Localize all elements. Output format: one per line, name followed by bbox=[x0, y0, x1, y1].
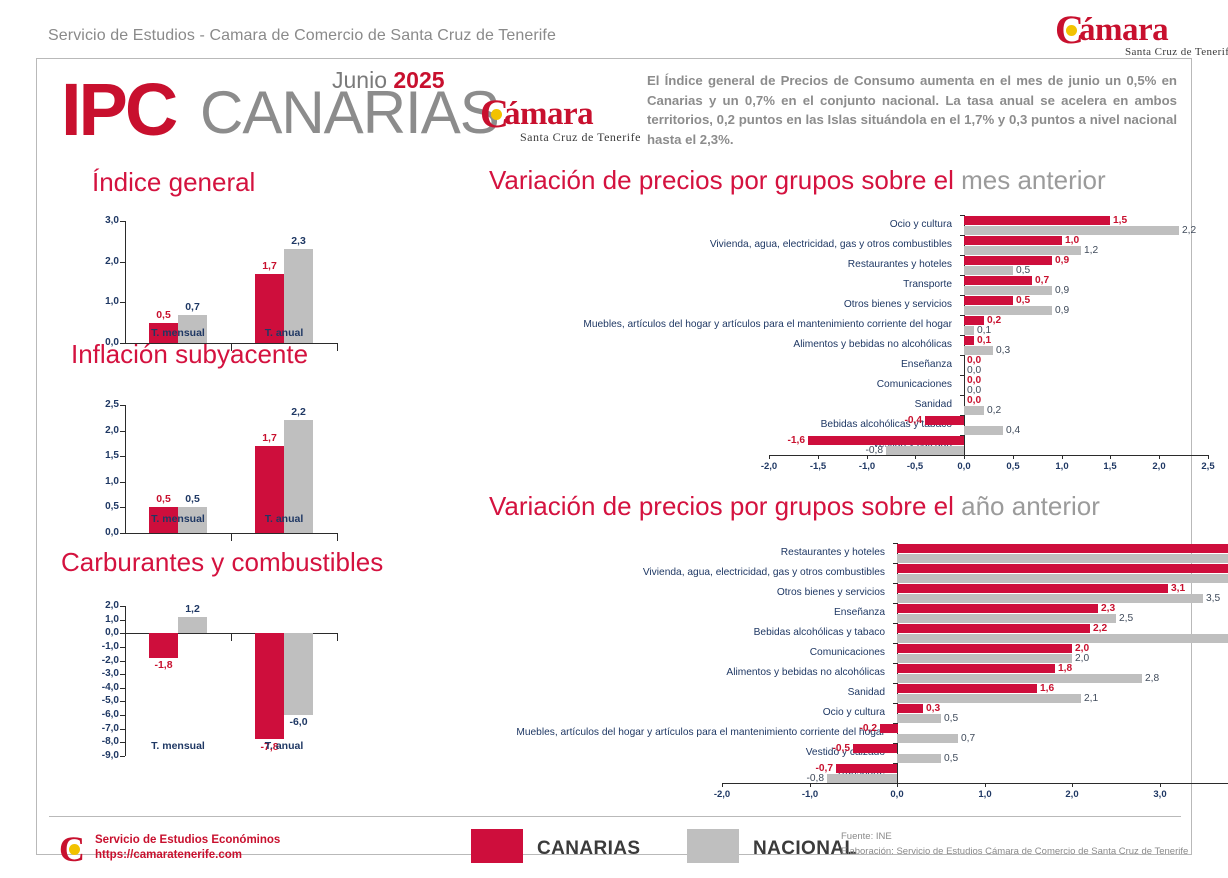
bar-value-label: 0,3 bbox=[926, 704, 940, 713]
bar-canarias bbox=[964, 336, 974, 345]
bar-nacional bbox=[964, 266, 1013, 275]
bar-value-label: 3,1 bbox=[1171, 584, 1185, 593]
infographic-page: Servicio de Estudios - Camara de Comerci… bbox=[0, 0, 1228, 878]
footer-divider bbox=[49, 816, 1181, 817]
period-year: 2025 bbox=[393, 67, 444, 93]
y-axis-tick bbox=[120, 302, 125, 303]
report-card: IPC CANARIAS Junio 2025 C ámara Santa Cr… bbox=[36, 58, 1192, 855]
bar-nacional bbox=[897, 734, 958, 743]
bar-value-label: 0,0 bbox=[967, 376, 981, 385]
summary-paragraph: El Índice general de Precios de Consumo … bbox=[647, 71, 1177, 149]
y-axis-tick bbox=[120, 405, 125, 406]
bar-value-label: 0,5 bbox=[1016, 296, 1030, 305]
legend-swatch-canarias bbox=[471, 829, 523, 863]
section-title-anio-anterior-highlight: año anterior bbox=[961, 491, 1100, 521]
category-label: Restaurantes y hoteles bbox=[77, 547, 885, 558]
bar-value-label: 2,0 bbox=[1075, 644, 1089, 653]
bar-value-label: 2,2 bbox=[1093, 624, 1107, 633]
bar-nacional bbox=[964, 326, 974, 335]
category-label: Transporte bbox=[77, 767, 885, 778]
x-axis-tick-label: 2,0 bbox=[1050, 789, 1094, 800]
bar-nacional bbox=[897, 714, 941, 723]
bar-value-label: 3,5 bbox=[1206, 594, 1220, 603]
x-axis-tick-label: -0,5 bbox=[893, 461, 937, 472]
x-axis-line bbox=[769, 455, 1208, 456]
y-axis-tick bbox=[120, 262, 125, 263]
category-label: Enseñanza bbox=[77, 607, 885, 618]
bar-value-label: 0,0 bbox=[967, 366, 981, 375]
bar-value-label: 1,6 bbox=[1040, 684, 1054, 693]
bar-canarias bbox=[925, 416, 964, 425]
bar-value-label: 0,0 bbox=[967, 386, 981, 395]
bar-canarias bbox=[897, 544, 1228, 553]
bar-nacional bbox=[897, 594, 1203, 603]
bar-canarias bbox=[836, 764, 897, 773]
bar-value-label: -0,8 bbox=[854, 446, 883, 455]
category-separator bbox=[337, 533, 338, 541]
y-axis-tick bbox=[120, 701, 125, 702]
category-label: Vivienda, agua, electricidad, gas y otro… bbox=[77, 567, 885, 578]
legend-swatch-nacional bbox=[687, 829, 739, 863]
section-title-mes-anterior-main: Variación de precios por grupos sobre el bbox=[489, 165, 961, 195]
x-axis-tick bbox=[1160, 783, 1161, 787]
category-label: Comunicaciones bbox=[147, 379, 952, 390]
bar-value-label: 2,1 bbox=[1084, 694, 1098, 703]
category-label: Restaurantes y hoteles bbox=[147, 259, 952, 270]
camara-logo-word: ámara bbox=[1079, 14, 1168, 47]
bar-canarias bbox=[897, 684, 1037, 693]
category-label: Sanidad bbox=[77, 687, 885, 698]
x-axis-tick-label: 1,0 bbox=[963, 789, 1007, 800]
x-axis-tick-label: 2,0 bbox=[1137, 461, 1181, 472]
x-axis-tick bbox=[1110, 455, 1111, 459]
bar-value-label: 1,8 bbox=[1058, 664, 1072, 673]
y-axis-tick-label: 3,0 bbox=[77, 215, 119, 226]
bar-value-label: 0,5 bbox=[944, 714, 958, 723]
bar-value-label: 0,1 bbox=[977, 336, 991, 345]
category-label: Comunicaciones bbox=[77, 647, 885, 658]
category-label: Otros bienes y servicios bbox=[77, 587, 885, 598]
bar-nacional bbox=[897, 614, 1116, 623]
bar-canarias bbox=[897, 624, 1090, 633]
category-label: Otros bienes y servicios bbox=[147, 299, 952, 310]
y-axis-tick bbox=[120, 620, 125, 621]
bar-value-label: 1,2 bbox=[1084, 246, 1098, 255]
section-title-anio-anterior-main: Variación de precios por grupos sobre el bbox=[489, 491, 961, 521]
bar-value-label: 0,4 bbox=[1006, 426, 1020, 435]
bar-value-label: -0,7 bbox=[804, 764, 833, 773]
bar-canarias bbox=[897, 604, 1098, 613]
bar-canarias bbox=[964, 216, 1110, 225]
y-axis-tick-label: 2,0 bbox=[77, 256, 119, 267]
category-label: T. anual bbox=[229, 513, 339, 525]
bar-nacional bbox=[964, 306, 1052, 315]
source-line-2: Elaboración: Servicio de Estudios Cámara… bbox=[841, 846, 1188, 857]
camara-logo-dot bbox=[69, 844, 80, 855]
page-subtitle: Servicio de Estudios - Camara de Comerci… bbox=[48, 27, 556, 45]
x-axis-tick bbox=[1013, 455, 1014, 459]
category-label: Enseñanza bbox=[147, 359, 952, 370]
bar-canarias bbox=[964, 316, 984, 325]
y-axis-tick bbox=[120, 482, 125, 483]
x-axis-tick bbox=[985, 783, 986, 787]
camara-logo-word: ámara bbox=[504, 98, 593, 131]
bar-value-label: -0,8 bbox=[795, 774, 824, 783]
bar-canarias bbox=[897, 564, 1228, 573]
bar-canarias bbox=[853, 744, 897, 753]
x-axis-tick-label: 2,5 bbox=[1186, 461, 1228, 472]
bar-value-label: -0,2 bbox=[848, 724, 877, 733]
bar-nacional bbox=[897, 654, 1072, 663]
ipc-wordmark: IPC bbox=[61, 73, 175, 147]
y-axis-tick-label: 2,0 bbox=[77, 425, 119, 436]
y-axis-tick bbox=[960, 395, 964, 396]
bar-value-label: -0,5 bbox=[821, 744, 850, 753]
category-label: Bebidas alcohólicas y tabaco bbox=[147, 419, 952, 430]
category-label: T. mensual bbox=[123, 513, 233, 525]
y-axis-tick bbox=[120, 431, 125, 432]
bar-nacional bbox=[897, 754, 941, 763]
x-axis-tick-label: -1,0 bbox=[788, 789, 832, 800]
category-label: Ocio y cultura bbox=[147, 219, 952, 230]
masthead: IPC CANARIAS Junio 2025 C ámara Santa Cr… bbox=[37, 59, 1193, 171]
bar-nacional bbox=[897, 634, 1228, 643]
bar-nacional bbox=[964, 286, 1052, 295]
category-label: Alimentos y bebidas no alcohólicas bbox=[77, 667, 885, 678]
footer-service-name: Servicio de Estudios Económinos bbox=[95, 834, 280, 846]
bar-nacional bbox=[964, 346, 993, 355]
bar-canarias bbox=[964, 236, 1062, 245]
bar-value-label: 0,7 bbox=[1035, 276, 1049, 285]
category-label: Muebles, artículos del hogar y artículos… bbox=[147, 319, 952, 330]
y-axis-tick-label: 1,0 bbox=[77, 476, 119, 487]
y-axis-tick-label: 1,0 bbox=[77, 296, 119, 307]
bar-nacional bbox=[886, 446, 964, 455]
y-axis-tick bbox=[120, 221, 125, 222]
section-title-mes-anterior: Variación de precios por grupos sobre el… bbox=[489, 165, 1106, 196]
x-axis-tick bbox=[722, 783, 723, 787]
bar-nacional bbox=[964, 406, 984, 415]
period-label: Junio 2025 bbox=[332, 67, 445, 94]
bar-value-label: 2,2 bbox=[1182, 226, 1196, 235]
y-axis-tick-label: 2,5 bbox=[77, 399, 119, 410]
section-title-mes-anterior-highlight: mes anterior bbox=[961, 165, 1106, 195]
bar-value-label: 0,5 bbox=[944, 754, 958, 763]
camara-logo-dot bbox=[491, 109, 502, 120]
section-title-anio-anterior: Variación de precios por grupos sobre el… bbox=[489, 491, 1100, 522]
bar-value-label: 2,8 bbox=[1145, 674, 1159, 683]
bar-value-label: 0,7 bbox=[961, 734, 975, 743]
y-axis-tick-label: 0,5 bbox=[77, 501, 119, 512]
bar-canarias bbox=[964, 256, 1052, 265]
x-axis-tick-label: 0,0 bbox=[875, 789, 919, 800]
footer-logo[interactable]: C Servicio de Estudios Económinos https:… bbox=[59, 831, 379, 871]
bar-value-label: 0,3 bbox=[996, 346, 1010, 355]
bar-nacional bbox=[964, 246, 1081, 255]
period-month: Junio bbox=[332, 67, 387, 93]
bar-nacional bbox=[827, 774, 897, 783]
x-axis-tick-label: 1,0 bbox=[1040, 461, 1084, 472]
bar-value-label: 0,0 bbox=[967, 396, 981, 405]
bar-canarias bbox=[964, 276, 1032, 285]
bar-canarias bbox=[880, 724, 898, 733]
chart-mes-anterior: -2,0-1,5-1,0-0,50,00,51,01,52,02,5Ocio y… bbox=[377, 197, 1177, 465]
x-axis-tick-label: 0,0 bbox=[942, 461, 986, 472]
x-axis-tick-label: 0,5 bbox=[991, 461, 1035, 472]
x-axis-tick-label: 3,0 bbox=[1138, 789, 1182, 800]
x-axis-tick-label: -2,0 bbox=[747, 461, 791, 472]
bar-canarias bbox=[808, 436, 964, 445]
x-axis-tick bbox=[1072, 783, 1073, 787]
x-axis-line bbox=[722, 783, 1228, 784]
y-axis-tick-label: 0,0 bbox=[77, 337, 119, 348]
source-line-1: Fuente: INE bbox=[841, 831, 892, 842]
x-axis-tick-label: -2,0 bbox=[700, 789, 744, 800]
bar-value-label: 2,0 bbox=[1075, 654, 1089, 663]
y-axis-tick bbox=[120, 456, 125, 457]
bar-value-label: 2,3 bbox=[1101, 604, 1115, 613]
x-axis-tick bbox=[915, 455, 916, 459]
bar-value-label: 0,0 bbox=[967, 356, 981, 365]
bar-value-label: 1,0 bbox=[1065, 236, 1079, 245]
camara-logo-top: C ámara Santa Cruz de Tenerife bbox=[1055, 8, 1225, 56]
y-axis-tick bbox=[120, 661, 125, 662]
x-axis-tick bbox=[1062, 455, 1063, 459]
y-axis-tick bbox=[120, 507, 125, 508]
x-axis-tick-label: -1,5 bbox=[796, 461, 840, 472]
y-axis-tick-label: 1,5 bbox=[77, 450, 119, 461]
bar-canarias bbox=[897, 664, 1055, 673]
bar-value-label: -0,4 bbox=[893, 416, 922, 425]
bar-nacional bbox=[964, 226, 1179, 235]
camara-logo-subtitle: Santa Cruz de Tenerife bbox=[1125, 46, 1228, 58]
bar-value-label: 0,9 bbox=[1055, 306, 1069, 315]
bar-nacional bbox=[897, 694, 1081, 703]
category-label: Muebles, artículos del hogar y artículos… bbox=[77, 727, 885, 738]
x-axis-tick bbox=[769, 455, 770, 459]
category-label: Vivienda, agua, electricidad, gas y otro… bbox=[147, 239, 952, 250]
bar-canarias bbox=[897, 584, 1168, 593]
bar-nacional bbox=[964, 426, 1003, 435]
section-title-indice-general: Índice general bbox=[92, 167, 255, 198]
bar-value-label: 2,5 bbox=[1119, 614, 1133, 623]
x-axis-tick bbox=[1159, 455, 1160, 459]
y-axis-tick bbox=[960, 375, 964, 376]
x-axis-tick bbox=[1208, 455, 1209, 459]
category-separator bbox=[231, 533, 232, 541]
y-axis-tick-label: 0,0 bbox=[77, 527, 119, 538]
bar-nacional bbox=[897, 574, 1228, 583]
bar-value-label: 1,5 bbox=[1113, 216, 1127, 225]
category-label: Vestido y calzado bbox=[77, 747, 885, 758]
bar-value-label: 0,9 bbox=[1055, 256, 1069, 265]
bar-value-label: 0,1 bbox=[977, 326, 991, 335]
x-axis-tick bbox=[897, 783, 898, 787]
bar-value-label: -1,6 bbox=[776, 436, 805, 445]
bar-nacional bbox=[897, 554, 1228, 563]
y-axis-tick bbox=[960, 355, 964, 356]
bar-value-label: 0,2 bbox=[987, 406, 1001, 415]
legend-label-canarias: CANARIAS bbox=[537, 838, 640, 860]
bar-value-label: 0,9 bbox=[1055, 286, 1069, 295]
top-strip: Servicio de Estudios - Camara de Comerci… bbox=[0, 0, 1228, 58]
bar-canarias bbox=[897, 644, 1072, 653]
category-label: Sanidad bbox=[147, 399, 952, 410]
category-label: Alimentos y bebidas no alcohólicas bbox=[147, 339, 952, 350]
x-axis-tick bbox=[964, 455, 965, 459]
bar-nacional bbox=[897, 674, 1142, 683]
x-axis-tick-label: -1,0 bbox=[845, 461, 889, 472]
x-axis-tick bbox=[818, 455, 819, 459]
category-label: Ocio y cultura bbox=[77, 707, 885, 718]
x-axis-tick-label: 1,5 bbox=[1088, 461, 1132, 472]
bar-value-label: 0,5 bbox=[168, 493, 217, 505]
y-axis-line bbox=[125, 221, 126, 343]
camara-logo-subtitle: Santa Cruz de Tenerife bbox=[520, 130, 641, 145]
bar-value-label: 0,2 bbox=[987, 316, 1001, 325]
bar-canarias bbox=[964, 296, 1013, 305]
camara-logo-dot bbox=[1066, 25, 1077, 36]
category-label: Bebidas alcohólicas y tabaco bbox=[77, 627, 885, 638]
bar-value-label: 0,5 bbox=[1016, 266, 1030, 275]
footer-website-link[interactable]: https://camaratenerife.com bbox=[95, 849, 242, 861]
chart-anio-anterior: -2,0-1,00,01,02,03,04,05,0Restaurantes y… bbox=[377, 525, 1177, 797]
bar-canarias bbox=[897, 704, 923, 713]
category-label: Transporte bbox=[147, 279, 952, 290]
